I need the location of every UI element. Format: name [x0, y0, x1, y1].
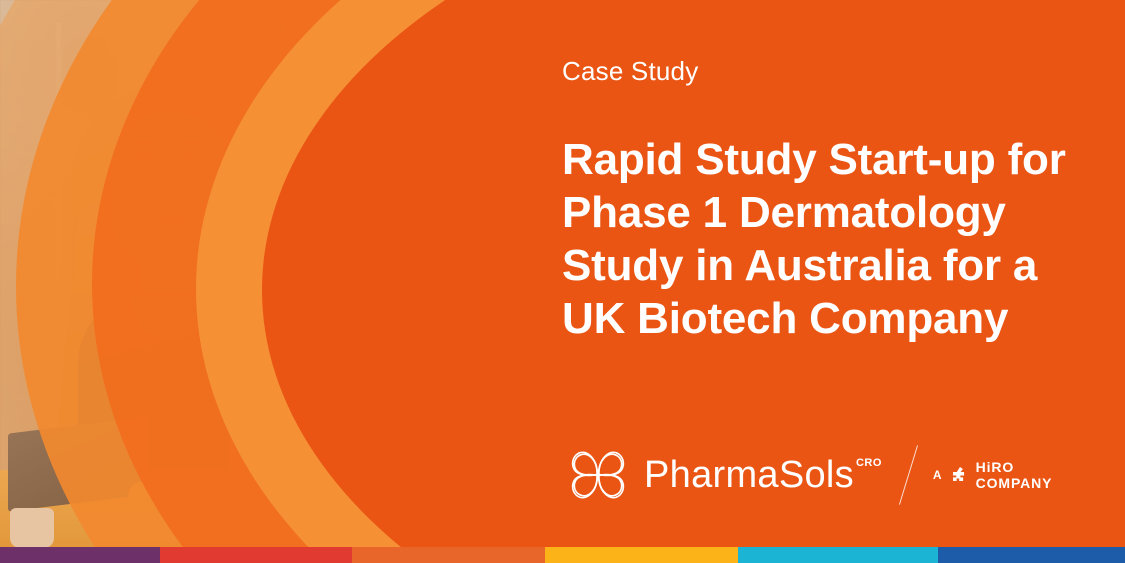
pharmasols-clover-logo-icon: [562, 439, 634, 511]
brand-color-bar: [0, 547, 1125, 563]
color-bar-segment-red: [160, 547, 352, 563]
color-bar-segment-orange: [352, 547, 545, 563]
logo-lockup: PharmaSols CRO A HiRO COMPANY: [562, 439, 1082, 511]
wordmark-text: PharmaSols: [644, 455, 854, 495]
banner-content: Case Study Rapid Study Start-up for Phas…: [562, 0, 1082, 547]
case-study-banner: Case Study Rapid Study Start-up for Phas…: [0, 0, 1125, 563]
hiro-endorsement: A HiRO COMPANY: [933, 459, 1082, 491]
wordmark-superscript: CRO: [856, 457, 882, 469]
color-bar-segment-purple: [0, 547, 160, 563]
hiro-company-text: HiRO COMPANY: [976, 459, 1082, 491]
color-bar-segment-blue: [938, 547, 1125, 563]
hiro-icon: [949, 464, 968, 486]
color-bar-segment-cyan: [738, 547, 938, 563]
color-bar-segment-yellow: [545, 547, 738, 563]
page-title: Rapid Study Start-up for Phase 1 Dermato…: [562, 133, 1082, 345]
eyebrow-label: Case Study: [562, 56, 698, 87]
hiro-prefix: A: [933, 468, 942, 482]
pharmasols-wordmark: PharmaSols CRO: [644, 455, 882, 495]
logo-divider: [899, 445, 918, 505]
